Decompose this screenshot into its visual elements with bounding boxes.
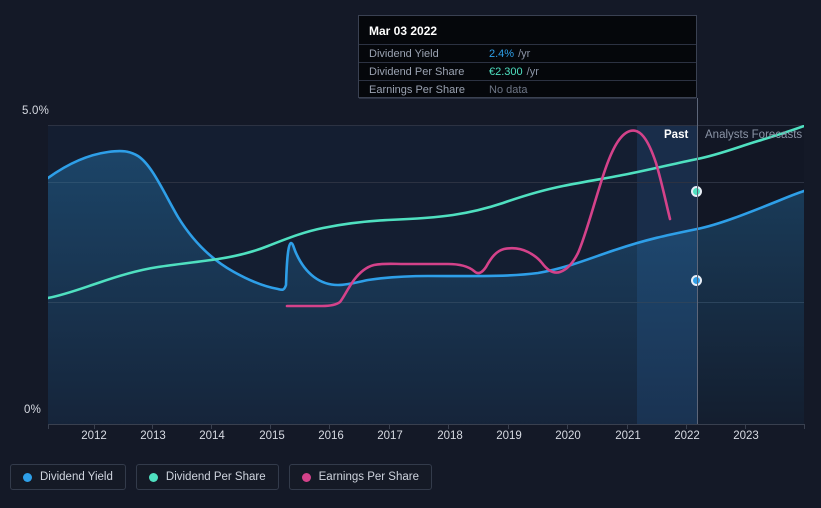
x-tick [686,424,687,429]
legend-item-dividend-per-share[interactable]: Dividend Per Share [136,464,279,490]
x-tick [804,424,805,429]
x-axis-label-2013: 2013 [130,430,176,442]
tooltip-label: Earnings Per Share [369,84,489,96]
past-label: Past [664,129,688,141]
x-tick [48,424,49,429]
x-tick [389,424,390,429]
legend-dot-icon [23,473,32,482]
chart-plot-area[interactable] [48,125,804,424]
chart-tooltip: Mar 03 2022 Dividend Yield 2.4% /yr Divi… [358,15,697,98]
legend-item-earnings-per-share[interactable]: Earnings Per Share [289,464,432,490]
x-axis-label-2016: 2016 [308,430,354,442]
legend-dot-icon [149,473,158,482]
forecast-divider-line [697,98,698,424]
x-axis-line [48,424,805,425]
x-tick [448,424,449,429]
x-axis-label-2018: 2018 [427,430,473,442]
x-tick [329,424,330,429]
legend-label: Dividend Per Share [166,471,266,483]
tooltip-value: No data [489,84,528,96]
x-tick [567,424,568,429]
tooltip-row-earnings-per-share: Earnings Per Share No data [359,80,696,98]
chart-screenshot: 5.0% 0% 2012 2013 2014 2015 2016 2017 20… [0,0,821,508]
x-tick [627,424,628,429]
tooltip-date: Mar 03 2022 [359,16,696,44]
x-tick [152,424,153,429]
tooltip-row-dividend-per-share: Dividend Per Share €2.300 /yr [359,62,696,80]
series-svg [48,125,804,424]
x-axis-label-2019: 2019 [486,430,532,442]
x-axis-label-2023: 2023 [723,430,769,442]
tooltip-unit: /yr [518,48,530,60]
tooltip-unit: /yr [527,66,539,78]
x-tick [508,424,509,429]
x-axis-label-2022: 2022 [664,430,710,442]
tooltip-label: Dividend Yield [369,48,489,60]
tooltip-row-spacer [359,98,696,105]
x-axis-label-2014: 2014 [189,430,235,442]
x-tick [270,424,271,429]
legend-item-dividend-yield[interactable]: Dividend Yield [10,464,126,490]
x-tick [745,424,746,429]
tooltip-label: Dividend Per Share [369,66,489,78]
x-axis-label-2020: 2020 [545,430,591,442]
legend-label: Earnings Per Share [319,471,419,483]
tooltip-row-dividend-yield: Dividend Yield 2.4% /yr [359,44,696,62]
x-tick [211,424,212,429]
x-axis-label-2015: 2015 [249,430,295,442]
analysts-forecasts-label: Analysts Forecasts [705,129,802,141]
tooltip-value: 2.4% [489,48,514,60]
x-axis-label-2012: 2012 [71,430,117,442]
y-axis-label-max: 5.0% [22,105,49,117]
y-axis-label-min: 0% [24,404,41,416]
chart-legend: Dividend Yield Dividend Per Share Earnin… [10,464,432,490]
x-axis-label-2021: 2021 [605,430,651,442]
x-axis-label-2017: 2017 [367,430,413,442]
tooltip-value: €2.300 [489,66,523,78]
legend-dot-icon [302,473,311,482]
legend-label: Dividend Yield [40,471,113,483]
x-tick [94,424,95,429]
